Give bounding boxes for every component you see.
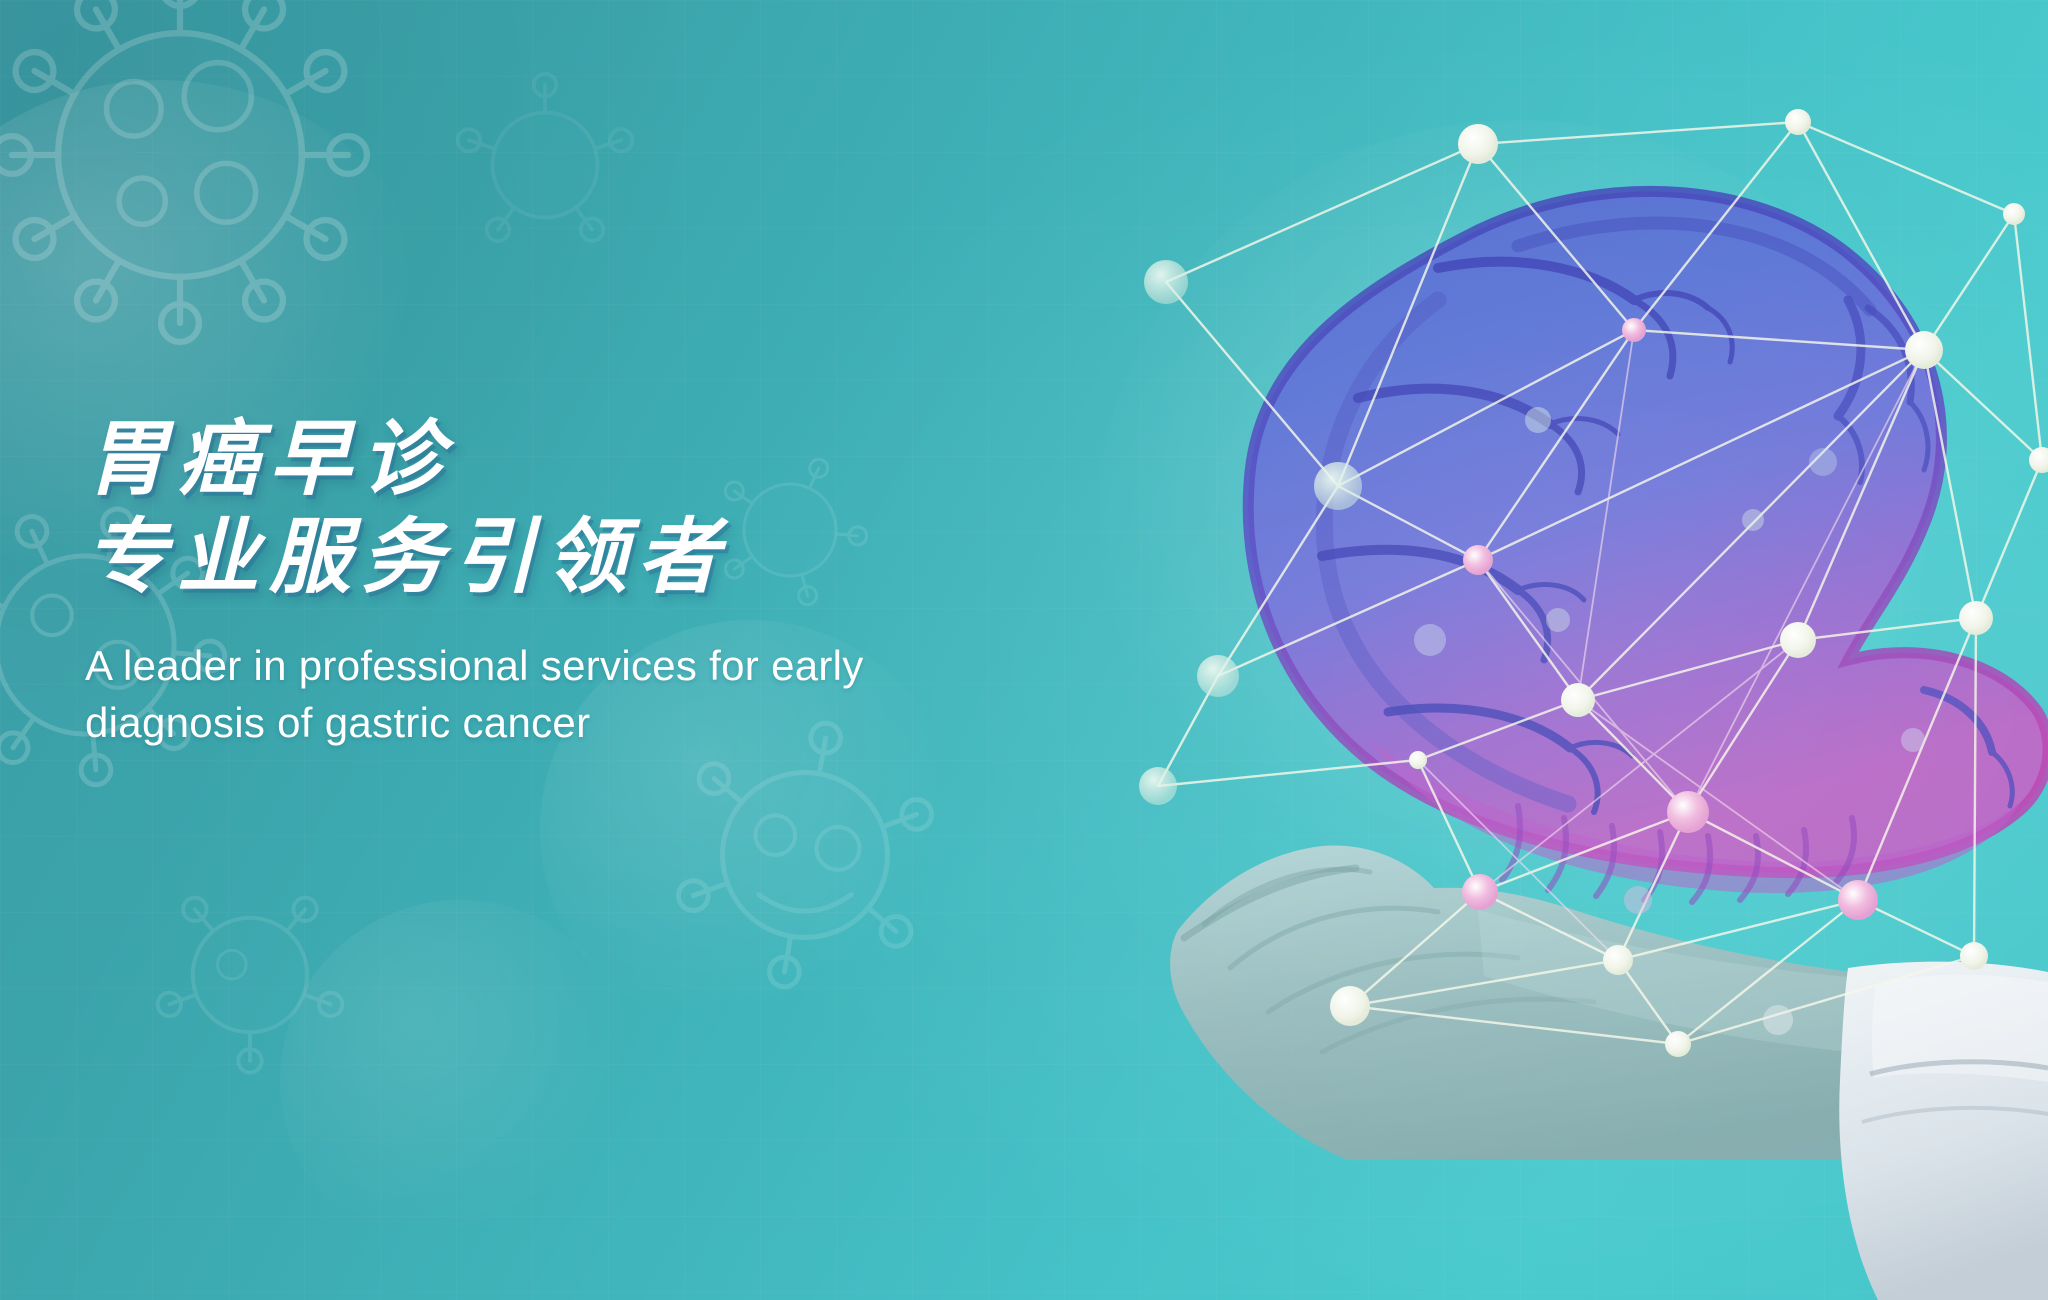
headline-chinese-line-2: 专业服务引领者 (85, 513, 1025, 603)
lab-coat-sleeve (1839, 962, 2048, 1300)
hero-banner: 胃癌早诊 专业服务引领者 A leader in professional se… (0, 0, 2048, 1300)
virus-watermark-icon (420, 40, 670, 290)
headline-block: 胃癌早诊 专业服务引领者 A leader in professional se… (85, 415, 1025, 751)
virus-watermark-icon (0, 0, 400, 365)
virus-watermark-icon (120, 840, 380, 1110)
stomach-hologram-illustration (918, 0, 2048, 1300)
headline-chinese-line-1: 胃癌早诊 (85, 415, 1025, 505)
subtitle-english: A leader in professional services for ea… (85, 637, 875, 751)
background-glow-blob (280, 900, 640, 1260)
